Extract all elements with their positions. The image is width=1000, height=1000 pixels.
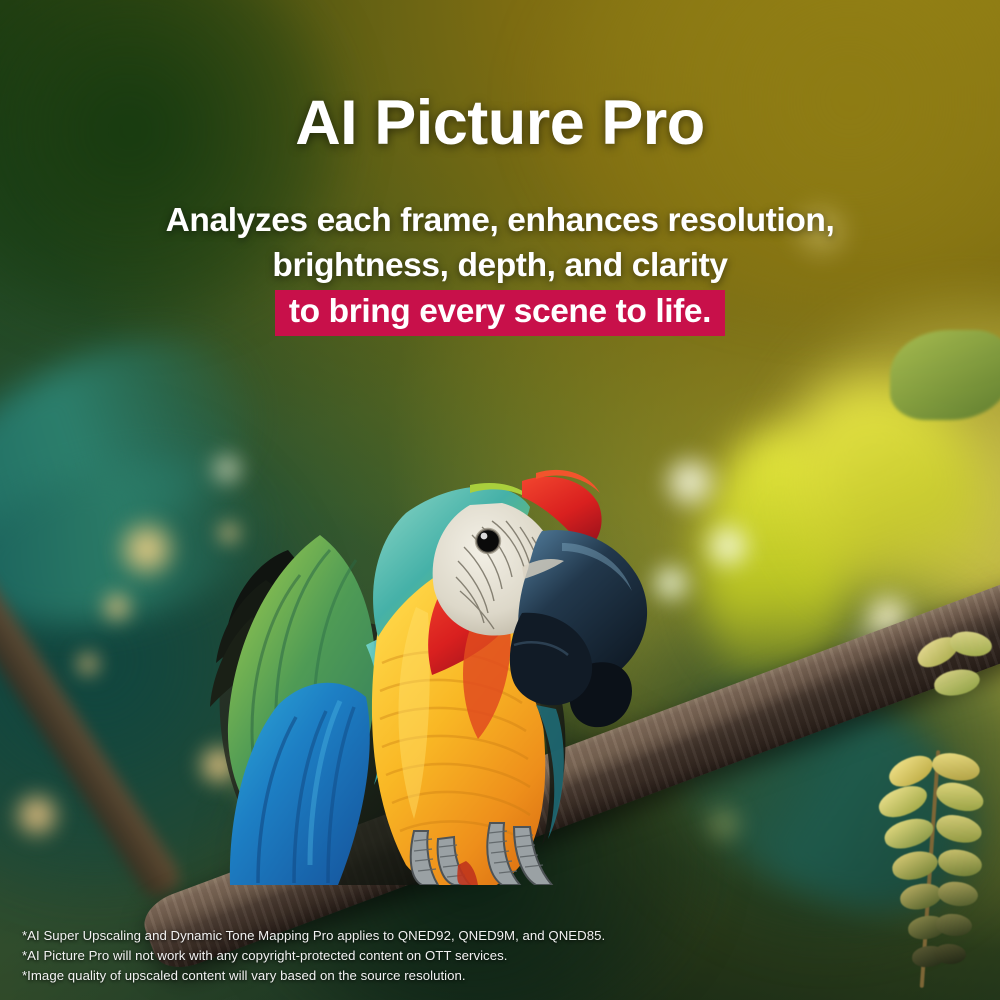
footnote-line: *AI Picture Pro will not work with any c… <box>22 946 605 966</box>
parrot-illustration <box>170 345 690 885</box>
leaf-sprig <box>890 330 1000 420</box>
macaw-parrot <box>170 345 690 885</box>
promo-banner: AI Picture Pro Analyzes each frame, enha… <box>0 0 1000 1000</box>
footnote-line: *Image quality of upscaled content will … <box>22 966 605 986</box>
bokeh-light <box>100 590 134 624</box>
subtitle-line-1: Analyzes each frame, enhances resolution… <box>0 198 1000 243</box>
seed-pod <box>936 846 984 881</box>
page-title: AI Picture Pro <box>0 92 1000 155</box>
seed-pod-cluster-upper <box>876 630 996 750</box>
bokeh-light <box>700 800 748 848</box>
bokeh-light <box>12 790 62 840</box>
highlight-tagline: to bring every scene to life. <box>275 290 725 336</box>
seed-pod <box>936 879 980 910</box>
seed-pod <box>933 810 984 848</box>
footnote-line: *AI Super Upscaling and Dynamic Tone Map… <box>22 926 605 946</box>
subtitle-line-2: brightness, depth, and clarity <box>0 243 1000 288</box>
bokeh-light <box>116 518 178 580</box>
seed-pod-cluster <box>854 750 1000 1000</box>
seed-pod <box>890 848 940 883</box>
seed-pod <box>881 814 936 852</box>
parrot-eye-highlight <box>481 533 488 540</box>
bokeh-light <box>74 650 102 678</box>
footnotes: *AI Super Upscaling and Dynamic Tone Map… <box>22 926 605 986</box>
seed-pod <box>898 881 943 912</box>
seed-pod <box>875 781 931 822</box>
seed-pod <box>935 912 974 939</box>
seed-pod <box>933 777 987 817</box>
subtitle-block: Analyzes each frame, enhances resolution… <box>0 198 1000 336</box>
bokeh-light <box>702 520 754 572</box>
seed-pod <box>932 667 981 698</box>
seed-pod <box>948 628 994 660</box>
